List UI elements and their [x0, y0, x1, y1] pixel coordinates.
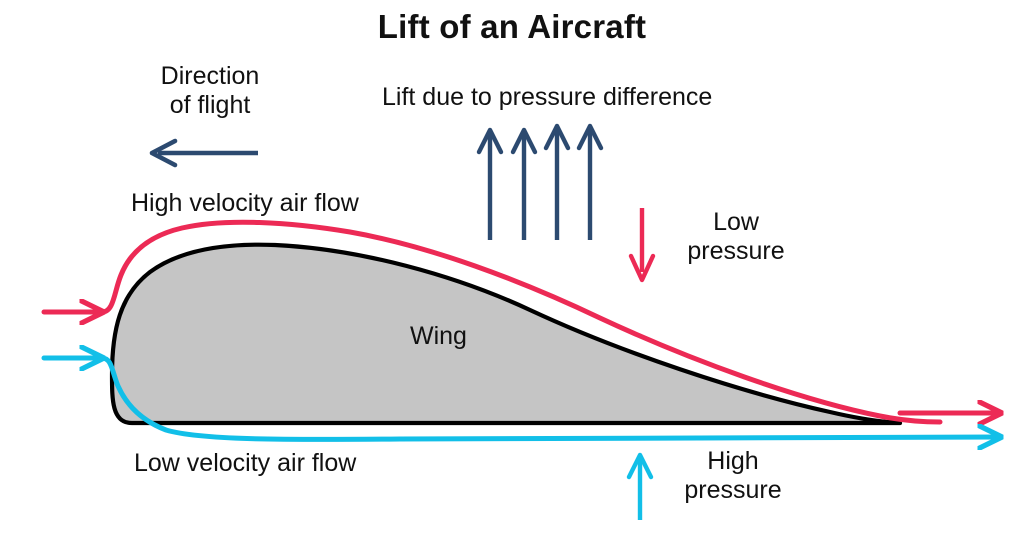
lift-arrow-up-icon-2 — [513, 130, 535, 240]
label-low-pressure: Low pressure — [666, 208, 806, 266]
lift-arrow-up-icon-4 — [579, 126, 601, 240]
low-pressure-arrow-down-icon — [631, 208, 653, 280]
label-lift-due-to-pressure-difference: Lift due to pressure difference — [382, 83, 712, 112]
label-low-velocity-air-flow: Low velocity air flow — [134, 449, 356, 478]
label-wing: Wing — [410, 322, 467, 351]
page-title: Lift of an Aircraft — [0, 8, 1024, 46]
wing-airfoil — [112, 245, 900, 423]
lift-arrows-group — [479, 126, 601, 240]
label-direction-of-flight: Direction of flight — [135, 62, 285, 120]
lift-arrow-up-icon-1 — [479, 130, 501, 240]
label-high-velocity-air-flow: High velocity air flow — [131, 189, 359, 218]
wing-shape — [112, 245, 900, 423]
lift-of-an-aircraft-diagram: Lift of an Aircraft Direction of flight … — [0, 0, 1024, 538]
lift-arrow-up-icon-3 — [546, 126, 568, 240]
high-pressure-arrow-up-icon — [629, 455, 651, 520]
direction-of-flight-arrow-icon — [152, 141, 258, 165]
label-high-pressure: High pressure — [663, 447, 803, 505]
